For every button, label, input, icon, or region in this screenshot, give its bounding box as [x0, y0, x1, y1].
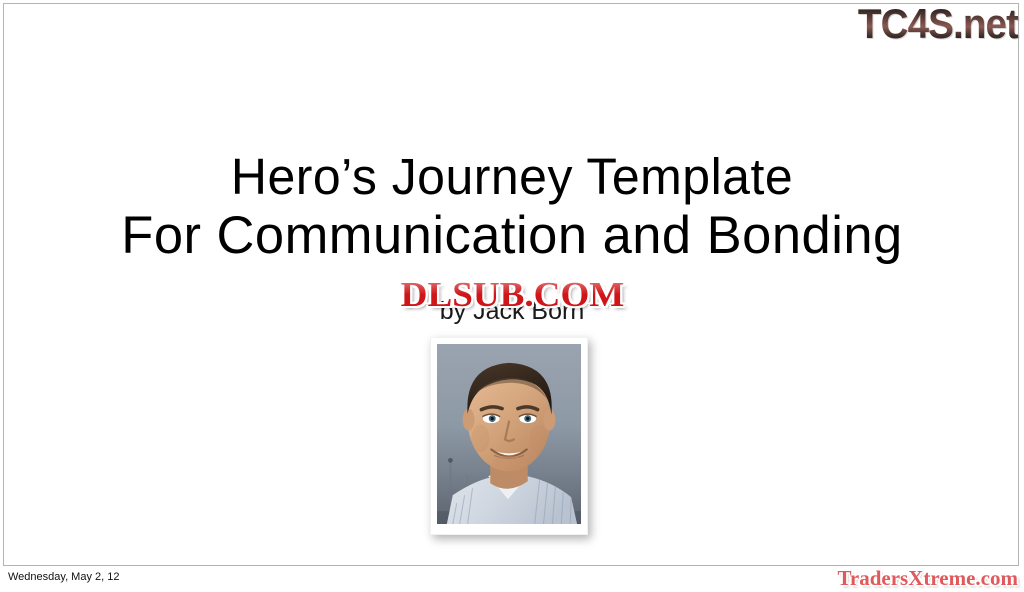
title-line-1: Hero’s Journey Template — [10, 148, 1014, 206]
portrait-photo — [437, 344, 581, 524]
center-watermark: DLSUB.COM — [366, 274, 658, 314]
site-logo: TC4S.net — [858, 2, 1018, 46]
slide-root: TC4S.net TC4S.net Hero’s Journey Templat… — [0, 0, 1024, 592]
portrait-photo-frame — [430, 337, 588, 535]
page-title: Hero’s Journey Template For Communicatio… — [0, 148, 1024, 266]
bottom-right-watermark: TradersXtreme.com — [837, 566, 1018, 590]
date-stamp: Wednesday, May 2, 12 — [8, 570, 120, 584]
portrait-photo-image — [437, 344, 581, 524]
center-watermark-text: DLSUB.COM — [400, 276, 624, 313]
title-line-2: For Communication and Bonding — [5, 206, 1019, 266]
